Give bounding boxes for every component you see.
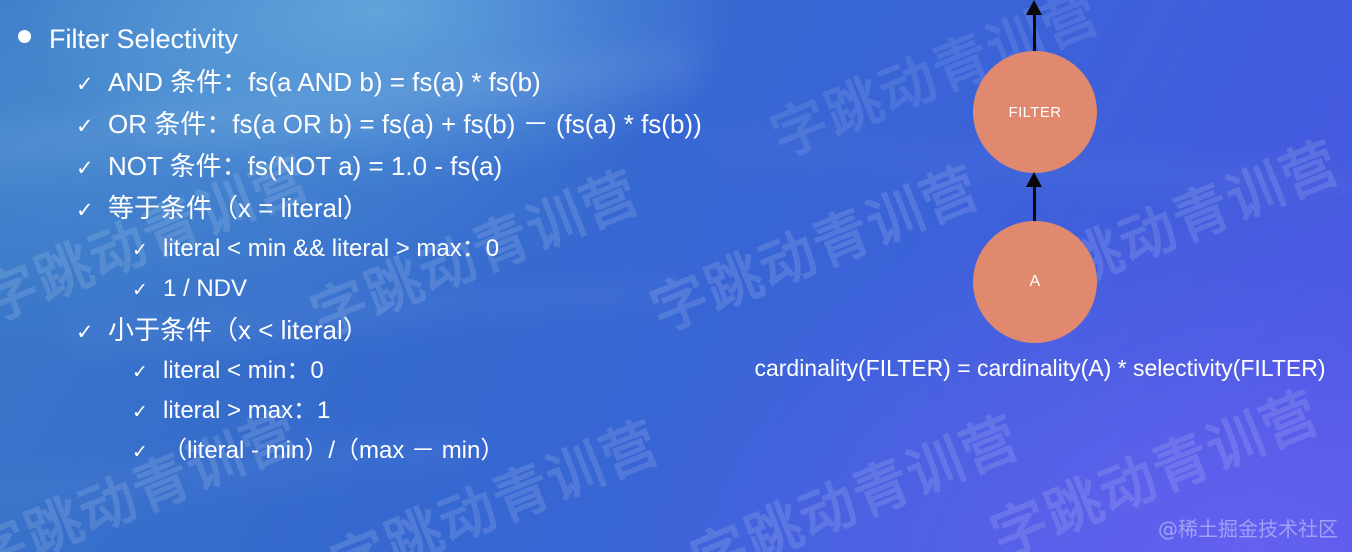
outline-item: ✓ 小于条件（x < literal） bbox=[76, 317, 730, 343]
corner-watermark: @稀土掘金技术社区 bbox=[1158, 513, 1338, 542]
outline-item-label: AND 条件：fs(a AND b) = fs(a) * fs(b) bbox=[108, 69, 541, 95]
check-icon: ✓ bbox=[76, 200, 108, 221]
outline-item-label: 等于条件（x = literal） bbox=[108, 195, 369, 221]
diagram-node-a: A bbox=[973, 221, 1097, 343]
check-icon: ✓ bbox=[132, 281, 163, 300]
outline-subitem: ✓ literal > max：1 bbox=[132, 399, 730, 423]
outline-subitem: ✓ （literal - min）/（max － min） bbox=[132, 439, 730, 463]
check-icon: ✓ bbox=[132, 241, 163, 260]
outline-subitem-label: literal > max：1 bbox=[163, 399, 330, 423]
page-title: Filter Selectivity bbox=[49, 26, 238, 53]
diagram-node-label: A bbox=[1029, 273, 1040, 291]
outline-subitem: ✓ literal < min：0 bbox=[132, 359, 730, 383]
check-icon: ✓ bbox=[76, 74, 108, 95]
outline-subitem: ✓ literal < min && literal > max：0 bbox=[132, 237, 730, 261]
outline-item: ✓ NOT 条件：fs(NOT a) = 1.0 - fs(a) bbox=[76, 153, 730, 179]
arrow-shaft bbox=[1033, 10, 1036, 54]
bullet-dot-icon bbox=[18, 30, 49, 47]
outline-list: Filter Selectivity ✓ AND 条件：fs(a AND b) … bbox=[0, 0, 730, 463]
outline-subitem-label: 1 / NDV bbox=[163, 277, 247, 301]
check-icon: ✓ bbox=[132, 363, 163, 382]
outline-subitem: ✓ 1 / NDV bbox=[132, 277, 730, 301]
page-title-row: Filter Selectivity bbox=[18, 26, 730, 53]
outline-item: ✓ 等于条件（x = literal） bbox=[76, 195, 730, 221]
outline-subitem-label: （literal - min）/（max － min） bbox=[163, 439, 504, 463]
diagram-caption: cardinality(FILTER) = cardinality(A) * s… bbox=[728, 355, 1352, 382]
presentation-slide: 字跳动青训营 字跳动青训营 字跳动青训营 字跳动青训营 字跳动青训营 字跳动青训… bbox=[0, 0, 1352, 552]
outline-item-label: OR 条件：fs(a OR b) = fs(a) + fs(b) － (fs(a… bbox=[108, 111, 702, 137]
watermark-text: 字跳动青训营 bbox=[677, 393, 1030, 552]
outline-item: ✓ AND 条件：fs(a AND b) = fs(a) * fs(b) bbox=[76, 69, 730, 95]
query-plan-diagram: FILTER A cardinality(FILTER) = cardinali… bbox=[720, 0, 1352, 400]
outline-item-label: NOT 条件：fs(NOT a) = 1.0 - fs(a) bbox=[108, 153, 502, 179]
outline-item: ✓ OR 条件：fs(a OR b) = fs(a) + fs(b) － (fs… bbox=[76, 111, 730, 137]
outline-subitem-label: literal < min && literal > max：0 bbox=[163, 237, 499, 261]
check-icon: ✓ bbox=[76, 116, 108, 137]
check-icon: ✓ bbox=[76, 322, 108, 343]
diagram-node-label: FILTER bbox=[1009, 104, 1062, 121]
check-icon: ✓ bbox=[132, 403, 163, 422]
outline-subitem-label: literal < min：0 bbox=[163, 359, 324, 383]
outline-item-label: 小于条件（x < literal） bbox=[108, 317, 369, 343]
check-icon: ✓ bbox=[132, 443, 163, 462]
diagram-node-filter: FILTER bbox=[973, 51, 1097, 173]
arrow-shaft bbox=[1033, 182, 1036, 224]
check-icon: ✓ bbox=[76, 158, 108, 179]
